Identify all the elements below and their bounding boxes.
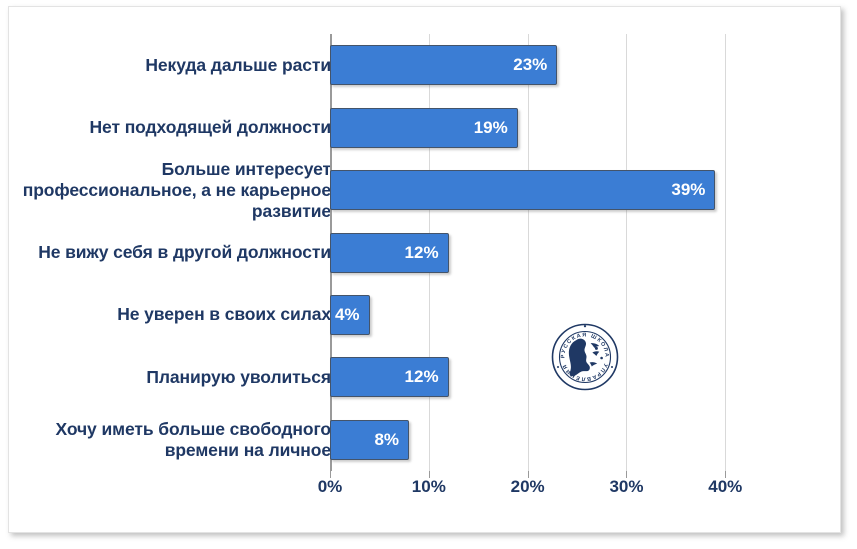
axis-tick-label: 0% [318, 477, 343, 497]
bar-value-label: 4% [335, 305, 369, 325]
bar-value-label: 8% [374, 430, 408, 450]
axis-tick-label: 40% [708, 477, 742, 497]
bar-chart: Некуда дальше растиНет подходящей должно… [9, 7, 842, 534]
category-label: Больше интересует профессиональное, а не… [21, 159, 331, 222]
watermark-logo: РУССКАЯ ШКОЛА УПРАВЛЕНИЯ [543, 315, 627, 399]
bar[interactable]: 12% [330, 357, 449, 397]
bar-value-label: 19% [474, 118, 517, 138]
axis-tick-mark [725, 471, 726, 478]
axis-tick-label: 10% [412, 477, 446, 497]
axis-tick-mark [626, 471, 627, 478]
bar[interactable]: 4% [330, 295, 370, 335]
bar[interactable]: 39% [330, 170, 715, 210]
gridline [626, 34, 627, 471]
category-axis-labels: Некуда дальше растиНет подходящей должно… [19, 34, 331, 471]
category-label: Не уверен в своих силах [21, 304, 331, 325]
axis-tick-mark [330, 471, 331, 478]
bar[interactable]: 8% [330, 420, 409, 460]
chart-card: Некуда дальше растиНет подходящей должно… [8, 6, 841, 533]
bar-value-label: 23% [513, 55, 556, 75]
axis-tick-label: 30% [609, 477, 643, 497]
value-axis-labels: 0%10%20%30%40% [330, 477, 750, 505]
bar[interactable]: 12% [330, 233, 449, 273]
category-label: Некуда дальше расти [21, 55, 331, 76]
bar-value-label: 12% [405, 367, 448, 387]
category-label: Не вижу себя в другой должности [21, 242, 331, 263]
category-label: Нет подходящей должности [21, 117, 331, 138]
plot-area: 23%19%39%12%4%12%8% [330, 34, 750, 471]
axis-tick-mark [429, 471, 430, 478]
axis-tick-label: 20% [511, 477, 545, 497]
bar-value-label: 39% [671, 180, 714, 200]
category-label: Планирую уволиться [21, 367, 331, 388]
axis-tick-mark [528, 471, 529, 478]
gridline [528, 34, 529, 471]
bar[interactable]: 19% [330, 108, 518, 148]
bar[interactable]: 23% [330, 45, 557, 85]
category-label: Хочу иметь больше свободного времени на … [21, 419, 331, 461]
gridline [725, 34, 726, 471]
bar-value-label: 12% [405, 243, 448, 263]
